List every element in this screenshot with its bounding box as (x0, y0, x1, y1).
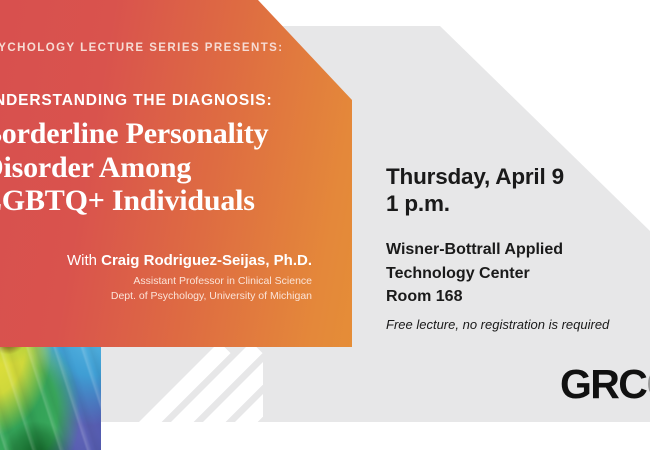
registration-note: Free lecture, no registration is require… (386, 317, 650, 332)
event-venue: Wisner-Bottrall Applied Technology Cente… (386, 238, 650, 308)
title-block: UNDERSTANDING THE DIAGNOSIS: Borderline … (0, 92, 332, 218)
lecture-poster: PSYCHOLOGY LECTURE SERIES PRESENTS: UNDE… (0, 0, 650, 450)
event-time: 1 p.m. (386, 190, 650, 217)
title-line-1: Borderline Personality (0, 117, 332, 151)
grcc-logo: GRCC (560, 361, 650, 408)
speaker-role-line-2: Dept. of Psychology, University of Michi… (0, 289, 312, 304)
title-subheading: UNDERSTANDING THE DIAGNOSIS: (0, 92, 332, 110)
venue-line-2: Technology Center (386, 262, 650, 285)
diagonal-stripes-decoration (103, 346, 263, 422)
logo-text: GRC (560, 361, 646, 407)
title-line-2: Disorder Among (0, 151, 332, 185)
event-date: Thursday, April 9 (386, 163, 650, 190)
venue-room: Room 168 (386, 285, 650, 308)
venue-line-1: Wisner-Bottrall Applied (386, 238, 650, 261)
speaker-affiliation: Assistant Professor in Clinical Science … (0, 274, 312, 304)
speaker-prefix: With (67, 252, 101, 269)
series-kicker: PSYCHOLOGY LECTURE SERIES PRESENTS: (0, 42, 310, 54)
speaker-name-line: With Craig Rodriguez-Seijas, Ph.D. (0, 252, 312, 269)
event-details: Thursday, April 9 1 p.m. Wisner-Bottrall… (386, 163, 650, 332)
title-line-3: LGBTQ+ Individuals (0, 184, 332, 218)
speaker-role-line-1: Assistant Professor in Clinical Science (0, 274, 312, 289)
speaker-block: With Craig Rodriguez-Seijas, Ph.D. Assis… (0, 252, 352, 304)
logo-text-cropped: C (646, 361, 650, 407)
speaker-name: Craig Rodriguez-Seijas, Ph.D. (101, 252, 312, 269)
